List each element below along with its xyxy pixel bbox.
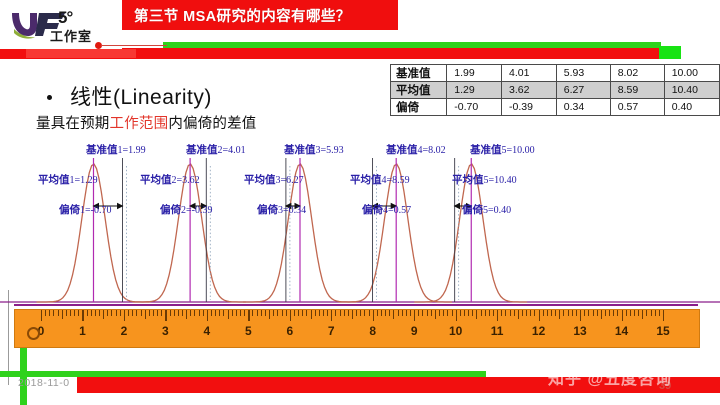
ruler-tick [78, 310, 79, 316]
ruler-tick [493, 310, 494, 316]
bullet-title: 线性(Linearity) [70, 86, 212, 109]
ruler-tick [609, 310, 610, 316]
ruler-tick [398, 310, 399, 316]
ruler-tick [103, 310, 104, 319]
ruler-tick [352, 310, 353, 319]
table-row: 偏倚-0.70-0.390.340.570.40 [391, 99, 720, 116]
ruler-number: 12 [532, 324, 545, 338]
ruler-hole-icon [27, 327, 40, 340]
ruler-tick [402, 310, 403, 316]
ruler-tick [439, 310, 440, 316]
title-banner: 第三节 MSA研究的内容有哪些？ [122, 0, 398, 30]
chart-label: 偏倚3=0.34 [257, 202, 306, 217]
logo-degree: 5° [58, 8, 72, 28]
ruler-tick [563, 310, 564, 316]
ruler-tick [360, 310, 361, 316]
table-cell: 10.00 [664, 65, 719, 82]
ruler-tick [149, 310, 150, 316]
ruler-tick [306, 310, 307, 316]
ruler-tick [452, 310, 453, 316]
ruler-tick [464, 310, 465, 316]
ruler-tick [593, 310, 594, 316]
ruler-number: 5 [245, 324, 252, 338]
ruler-tick [630, 310, 631, 316]
chart-label: 基准值2=4.01 [186, 142, 246, 157]
table-row-label: 基准值 [391, 65, 447, 82]
ruler-tick [443, 310, 444, 316]
table-row: 平均值1.293.626.278.5910.40 [391, 82, 720, 99]
table-cell: 1.29 [447, 82, 502, 99]
ruler-tick [626, 310, 627, 316]
ruler-tick [53, 310, 54, 316]
ruler-tick [377, 310, 378, 316]
chart-label: 偏倚4=0.57 [362, 202, 411, 217]
ruler-tick [642, 310, 643, 319]
ruler-number: 8 [369, 324, 376, 338]
ruler-tick [132, 310, 133, 316]
ruler-tick [49, 310, 50, 316]
chart-label: 偏倚5=0.40 [462, 202, 511, 217]
ruler-tick [298, 310, 299, 316]
ruler-tick [456, 310, 457, 321]
chart-label: 平均值1=1.29 [38, 172, 98, 187]
ruler-number: 2 [121, 324, 128, 338]
ruler-tick [510, 310, 511, 316]
ruler-tick [622, 310, 623, 321]
slide-canvas: 5° 工作室 第三节 MSA研究的内容有哪些？ 线性(Linearity) 量具… [0, 0, 720, 405]
ruler-tick [286, 310, 287, 316]
ruler-tick [481, 310, 482, 316]
definition-highlight: 工作范围 [110, 116, 169, 132]
ruler-tick [485, 310, 486, 316]
ruler-tick [414, 310, 415, 321]
ruler-tick [551, 310, 552, 316]
slide-date: 2018-11-0 [18, 377, 70, 389]
ruler-tick [460, 310, 461, 316]
chart-label: 偏倚2=-0.39 [160, 202, 212, 217]
ruler-number: 14 [615, 324, 628, 338]
ruler-number: 4 [204, 324, 211, 338]
logo: 5° 工作室 [0, 0, 122, 49]
ruler-tick [472, 310, 473, 316]
ruler-tick [418, 310, 419, 316]
ruler-tick [601, 310, 602, 319]
table-cell: 0.57 [610, 99, 664, 116]
ruler-tick [655, 310, 656, 316]
ruler-tick [111, 310, 112, 316]
ruler-tick [315, 310, 316, 316]
ruler-tick [340, 310, 341, 316]
ruler-tick [634, 310, 635, 316]
ruler-tick [373, 310, 374, 321]
ruler-tick [74, 310, 75, 316]
ruler-tick [277, 310, 278, 316]
ruler-tick [294, 310, 295, 316]
ruler-tick [588, 310, 589, 316]
ruler-tick [219, 310, 220, 316]
ruler-tick [427, 310, 428, 316]
ruler-tick [584, 310, 585, 316]
chart-label: 平均值2=3.62 [140, 172, 200, 187]
table-cell: 6.27 [556, 82, 610, 99]
ruler-tick [539, 310, 540, 321]
distribution-chart: 基准值1=1.99基准值2=4.01基准值3=5.93基准值4=8.02基准值5… [0, 140, 720, 305]
ruler-tick [136, 310, 137, 316]
ruler-tick [232, 310, 233, 316]
ruler-number: 9 [411, 324, 418, 338]
ruler-tick [576, 310, 577, 316]
ruler-tick [613, 310, 614, 316]
ruler-tick [107, 310, 108, 316]
ruler-tick [651, 310, 652, 316]
ruler-tick [95, 310, 96, 316]
ruler-tick [87, 310, 88, 316]
ruler-tick [348, 310, 349, 316]
chart-label: 基准值4=8.02 [386, 142, 446, 157]
ruler-tick [505, 310, 506, 316]
ruler-tick [207, 310, 208, 321]
table-cell: 0.34 [556, 99, 610, 116]
ruler-tick [335, 310, 336, 316]
ruler-tick [66, 310, 67, 316]
definition-suffix: 内偏倚的差值 [168, 116, 256, 132]
ruler-tick [41, 310, 42, 321]
ruler-tick [497, 310, 498, 321]
ruler-tick [178, 310, 179, 316]
ruler-tick [145, 310, 146, 319]
ruler-tick [153, 310, 154, 316]
ruler-tick [489, 310, 490, 316]
watermark: 知乎 @五度咨询 [548, 365, 672, 389]
header-red-ghost [26, 49, 136, 58]
ruler-tick [410, 310, 411, 316]
ruler-tick [431, 310, 432, 316]
ruler-tick [311, 310, 312, 319]
ruler-tick [282, 310, 283, 316]
ruler-tick [381, 310, 382, 316]
ruler-tick [518, 310, 519, 319]
chart-svg [0, 140, 720, 305]
ruler-tick [638, 310, 639, 316]
ruler-tick [302, 310, 303, 316]
ruler-number: 3 [162, 324, 169, 338]
table-cell: 8.02 [610, 65, 664, 82]
ruler-tick [422, 310, 423, 316]
definition-prefix: 量具在预期 [36, 116, 110, 132]
ruler-tick [476, 310, 477, 319]
ruler-tick [547, 310, 548, 316]
table-cell: 10.40 [664, 82, 719, 99]
ruler-tick [468, 310, 469, 316]
ruler-tick [319, 310, 320, 316]
ruler-tick [327, 310, 328, 316]
table-row-label: 平均值 [391, 82, 447, 99]
ruler-tick [82, 310, 83, 321]
ruler-tick [597, 310, 598, 316]
ruler-number: 7 [328, 324, 335, 338]
ruler-tick [331, 310, 332, 321]
ruler-tick [543, 310, 544, 316]
table-row: 基准值1.994.015.938.0210.00 [391, 65, 720, 82]
ruler-tick [124, 310, 125, 321]
ruler-tick [199, 310, 200, 316]
page-title: 第三节 MSA研究的内容有哪些？ [134, 5, 351, 26]
chart-label: 基准值3=5.93 [284, 142, 344, 157]
ruler-tick [406, 310, 407, 316]
ruler-tick [240, 310, 241, 316]
ruler-tick [534, 310, 535, 316]
ruler-tick [393, 310, 394, 319]
ruler-tick [70, 310, 71, 316]
ruler-tick [369, 310, 370, 316]
ruler-tick [62, 310, 63, 319]
table-cell: 1.99 [447, 65, 502, 82]
ruler-tick [389, 310, 390, 316]
ruler-tick [120, 310, 121, 316]
chart-label: 平均值3=6.27 [244, 172, 304, 187]
ruler-tick [215, 310, 216, 316]
ruler-tick [364, 310, 365, 316]
ruler-tick [385, 310, 386, 316]
ruler: 0123456789101112131415 [14, 309, 700, 348]
ruler-tick [522, 310, 523, 316]
ruler-ticks [15, 310, 699, 321]
table-cell: -0.70 [447, 99, 502, 116]
ruler-number: 1 [79, 324, 86, 338]
ruler-tick [323, 310, 324, 316]
table-cell: 0.40 [664, 99, 719, 116]
ruler-tick [356, 310, 357, 316]
ruler-tick [261, 310, 262, 316]
ruler-tick [174, 310, 175, 316]
chart-label: 基准值5=10.00 [470, 142, 535, 157]
ruler-tick [447, 310, 448, 316]
ruler-tick [236, 310, 237, 316]
ruler-tick [128, 310, 129, 316]
ruler-tick [555, 310, 556, 316]
ruler-tick [165, 310, 166, 321]
ruler-tick [228, 310, 229, 319]
ruler-tick [186, 310, 187, 319]
table-cell: 8.59 [610, 82, 664, 99]
header-connector-line [101, 45, 167, 46]
table-cell: 4.01 [502, 65, 557, 82]
bullet-dot-icon [47, 95, 52, 100]
ruler-tick [265, 310, 266, 316]
ruler-tick [514, 310, 515, 316]
ruler-number: 15 [656, 324, 669, 338]
ruler-tick [526, 310, 527, 316]
ruler-tick [58, 310, 59, 316]
ruler-tick [257, 310, 258, 316]
table-cell: 3.62 [502, 82, 557, 99]
table-cell: -0.39 [502, 99, 557, 116]
ruler-tick [248, 310, 249, 321]
ruler-tick [99, 310, 100, 316]
ruler-tick [116, 310, 117, 316]
ruler-tick [501, 310, 502, 316]
chart-label: 偏倚1=-0.70 [59, 202, 111, 217]
ruler-tick [663, 310, 664, 321]
ruler-tick [269, 310, 270, 319]
ruler-number: 13 [573, 324, 586, 338]
ruler-tick [252, 310, 253, 316]
ruler-tick [435, 310, 436, 319]
logo-studio: 工作室 [50, 26, 92, 45]
header-green-square [659, 46, 681, 59]
ruler-number: 11 [491, 324, 504, 338]
ruler-tick [203, 310, 204, 316]
ruler-tick [161, 310, 162, 316]
table-cell: 5.93 [556, 65, 610, 82]
ruler-tick [530, 310, 531, 316]
chart-label: 平均值5=10.40 [452, 172, 517, 187]
ruler-tick [45, 310, 46, 316]
definition-text: 量具在预期工作范围内偏倚的差值 [36, 112, 257, 133]
ruler-tick [568, 310, 569, 316]
footer-green-line [0, 371, 486, 377]
ruler-tick [182, 310, 183, 316]
ruler-tick [572, 310, 573, 316]
ruler-tick [290, 310, 291, 321]
ruler-tick [157, 310, 158, 316]
ruler-tick [617, 310, 618, 316]
ruler-tick [211, 310, 212, 316]
ruler-tick [605, 310, 606, 316]
ruler-tick [170, 310, 171, 316]
ruler-tick [244, 310, 245, 316]
ruler-tick [344, 310, 345, 316]
linearity-table: 基准值1.994.015.938.0210.00平均值1.293.626.278… [390, 64, 720, 116]
table-row-label: 偏倚 [391, 99, 447, 116]
ruler-tick [559, 310, 560, 319]
ruler-tick [141, 310, 142, 316]
ruler-tick [580, 310, 581, 321]
ruler-top-purple-line [14, 304, 698, 306]
ruler-tick [273, 310, 274, 316]
ruler-number: 6 [286, 324, 293, 338]
ruler-number: 10 [449, 324, 462, 338]
ruler-tick [223, 310, 224, 316]
bullet-heading: 线性(Linearity) [47, 81, 212, 111]
ruler-tick [91, 310, 92, 316]
ruler-tick [194, 310, 195, 316]
ruler-tick [190, 310, 191, 316]
ruler-tick [659, 310, 660, 316]
chart-label: 基准值1=1.99 [86, 142, 146, 157]
ruler-tick [646, 310, 647, 316]
chart-label: 平均值4=8.59 [350, 172, 410, 187]
